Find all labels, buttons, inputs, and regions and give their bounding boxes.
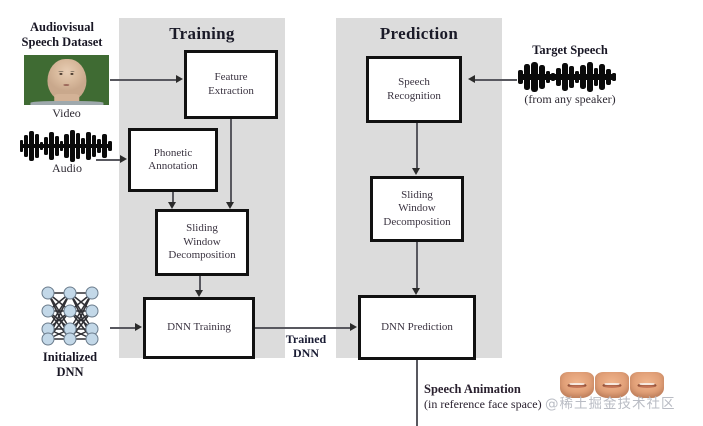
swd-training-line1: Sliding [165,222,238,235]
speech-recognition-line2: Recognition [384,90,444,103]
training-panel-title: Training [119,24,285,44]
connector-dnn-training-to-dnn-prediction [255,327,351,329]
connector-audio-to-phonetic-annotation [96,159,121,161]
neural-network-icon [34,285,106,347]
shoulder-shape [30,101,103,106]
target-speech-label: Target Speech [500,43,640,58]
initialized-dnn-line1: Initialized [14,350,126,365]
feature-extraction-line2: Extraction [205,85,257,98]
speech-recognition-box[interactable]: Speech Recognition [366,56,462,123]
target-speech-note: (from any speaker) [498,92,642,107]
swd-training-line2: Window [165,236,238,249]
connector-swd-to-dnn-prediction [416,242,418,288]
mouth [63,84,69,86]
arrowhead-phonetic-annotation-to-swd [168,202,176,209]
phonetic-annotation-box[interactable]: Phonetic Annotation [128,128,218,192]
swd-training-line3: Decomposition [165,249,238,262]
dnn-prediction-box[interactable]: DNN Prediction [358,295,476,360]
arrowhead-swd-to-dnn-training [195,290,203,297]
dnn-training-box[interactable]: DNN Training [143,297,255,359]
connector-dnn-prediction-to-speech-animation [416,360,418,426]
feature-extraction-line1: Feature [205,71,257,84]
arrowhead-feature-extraction-to-swd [226,202,234,209]
trained-dnn-line2: DNN [272,346,340,360]
arrowhead-video-to-feature-extraction [176,75,183,83]
sliding-window-decomposition-box-prediction[interactable]: Sliding Window Decomposition [370,176,464,242]
arrowhead-swd-to-dnn-prediction [412,288,420,295]
prediction-panel-title: Prediction [336,24,502,44]
trained-dnn-label: Trained DNN [272,332,340,361]
dnn-prediction-line1: DNN Prediction [378,321,456,334]
arrowhead-speech-recognition-to-swd [412,168,420,175]
speech-recognition-line1: Speech [384,76,444,89]
phonetic-annotation-line1: Phonetic [145,147,201,160]
dnn-training-line1: DNN Training [164,321,234,334]
video-thumbnail-icon [24,55,109,105]
watermark: @稀土掘金技术社区 [545,392,676,412]
diagram-canvas: Training Prediction Audiovisual Speech D… [0,0,703,426]
arrowhead-dnn-training-to-dnn-prediction [350,323,357,331]
sliding-window-decomposition-box-training[interactable]: Sliding Window Decomposition [155,209,249,276]
trained-dnn-line1: Trained [272,332,340,346]
dataset-label-line2: Speech Dataset [8,35,116,50]
initialized-dnn-label: Initialized DNN [14,350,126,380]
arrowhead-audio-to-phonetic-annotation [120,155,127,163]
eye-right [70,73,74,75]
connector-feature-extraction-to-swd [230,119,232,203]
phonetic-annotation-line2: Annotation [145,160,201,173]
connector-speech-recognition-to-swd [416,123,418,169]
audio-waveform-icon [18,130,116,162]
connector-target-speech-to-speech-recognition [475,79,517,81]
arrowhead-initialized-dnn-to-dnn-training [135,323,142,331]
connector-video-to-feature-extraction [110,79,176,81]
connector-swd-to-dnn-training [199,276,201,291]
feature-extraction-box[interactable]: Feature Extraction [184,50,278,119]
video-label: Video [24,106,109,121]
dataset-label: Audiovisual Speech Dataset [8,20,116,50]
swd-prediction-line3: Decomposition [380,216,453,229]
target-speech-waveform-icon [516,62,624,92]
eye-left [59,73,63,75]
dataset-label-line1: Audiovisual [8,20,116,35]
arrowhead-target-speech-to-speech-recognition [468,75,475,83]
swd-prediction-line1: Sliding [380,189,453,202]
connector-initialized-dnn-to-dnn-training [110,327,136,329]
eyebrow-right [70,71,74,72]
audio-label: Audio [18,161,116,176]
eyebrow-left [59,71,63,72]
initialized-dnn-line2: DNN [14,365,126,380]
swd-prediction-line2: Window [380,202,453,215]
